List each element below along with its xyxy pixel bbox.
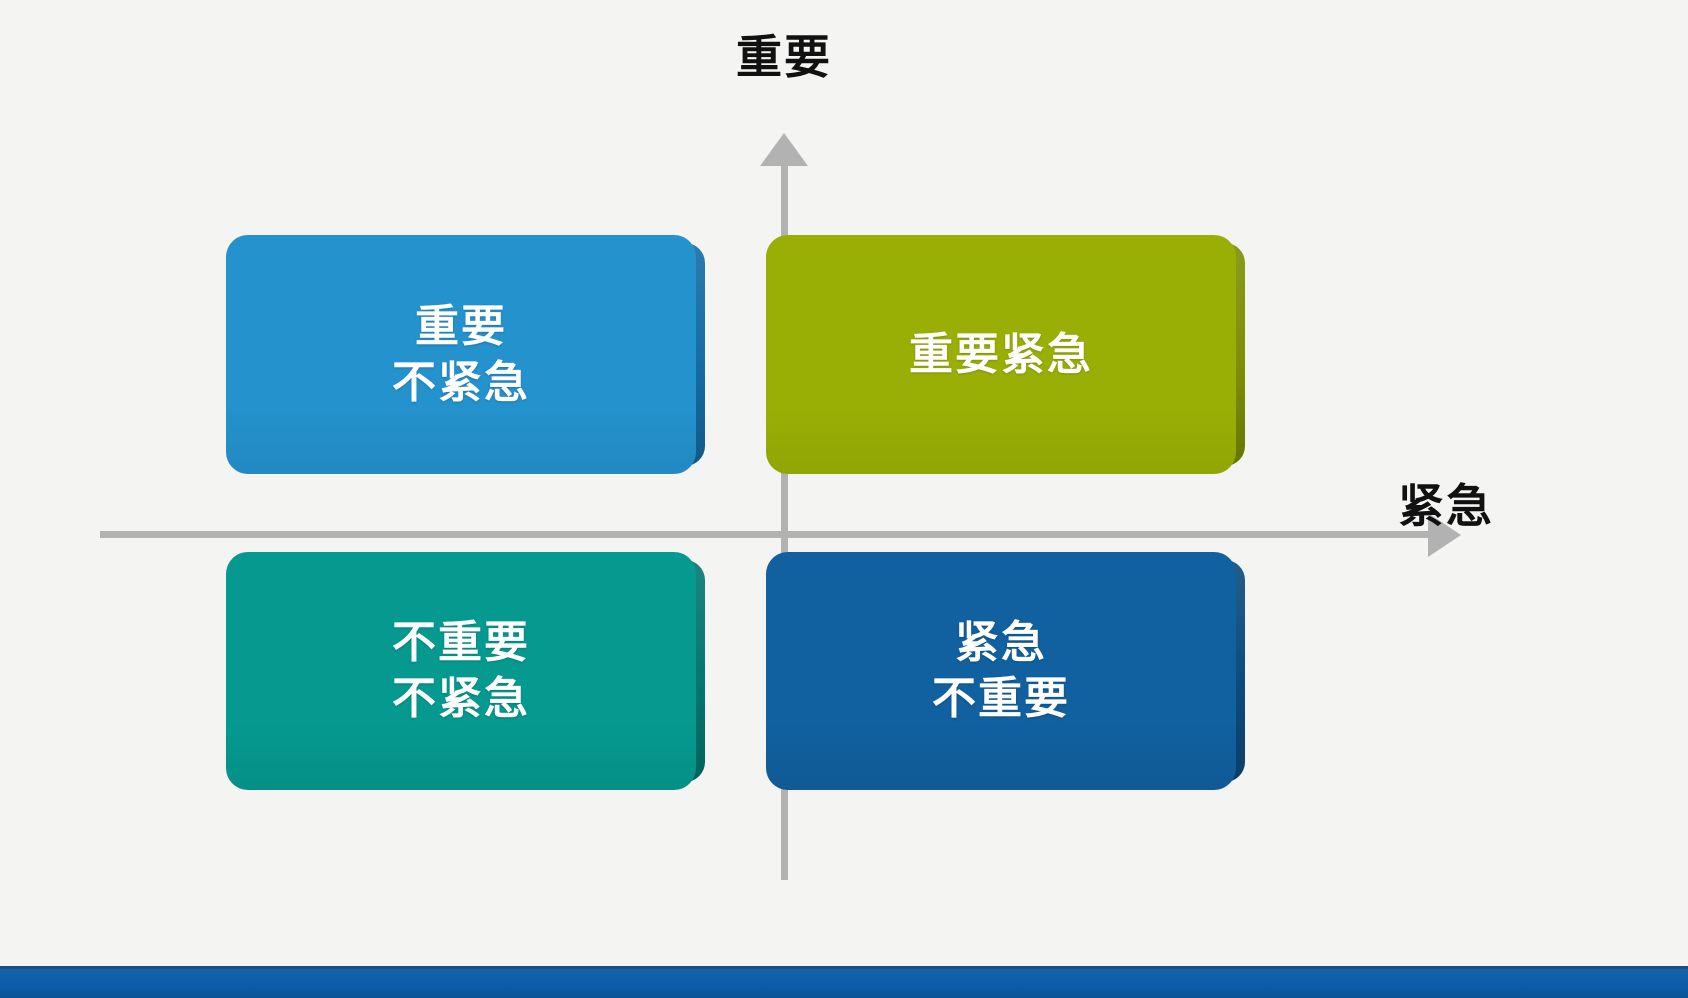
quadrant-face: 重要 不紧急 xyxy=(226,235,696,474)
eisenhower-matrix-slide: 重要 紧急 重要 不紧急 重要紧急 不重要 不紧急 紧急 不重要 xyxy=(0,0,1688,998)
quadrant-face: 重要紧急 xyxy=(766,235,1236,474)
quadrant-important-not-urgent[interactable]: 重要 不紧急 xyxy=(226,235,696,474)
quadrant-urgent-not-important[interactable]: 紧急 不重要 xyxy=(766,552,1236,790)
footer-bar-top-line xyxy=(0,966,1688,969)
vertical-axis-label: 重要 xyxy=(0,34,1568,80)
quadrant-label: 重要 不紧急 xyxy=(392,299,530,411)
quadrant-face: 不重要 不紧急 xyxy=(226,552,696,790)
quadrant-label: 不重要 不紧急 xyxy=(392,615,530,727)
quadrant-important-urgent[interactable]: 重要紧急 xyxy=(766,235,1236,474)
quadrant-face: 紧急 不重要 xyxy=(766,552,1236,790)
vertical-axis-arrow-icon xyxy=(760,133,808,166)
footer-bar xyxy=(0,966,1688,998)
quadrant-label: 重要紧急 xyxy=(909,327,1093,383)
horizontal-axis-label: 紧急 xyxy=(1398,483,1494,529)
quadrant-not-important-not-urgent[interactable]: 不重要 不紧急 xyxy=(226,552,696,790)
quadrant-label: 紧急 不重要 xyxy=(932,615,1070,727)
horizontal-axis-line xyxy=(100,531,1432,538)
